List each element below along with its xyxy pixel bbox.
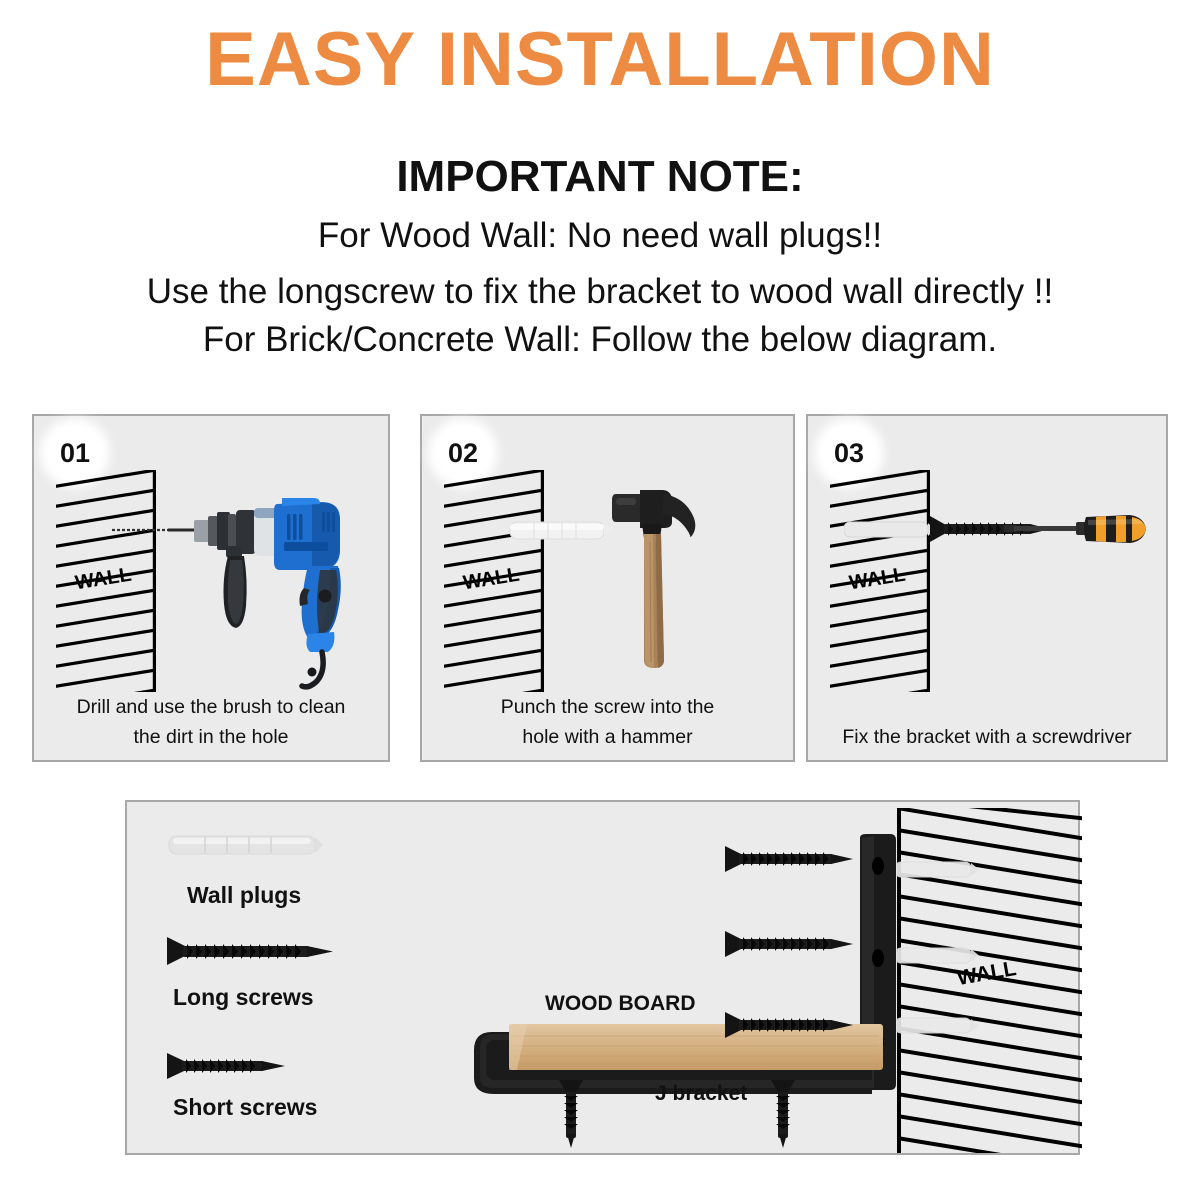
page-title: EASY INSTALLATION xyxy=(0,22,1200,98)
step-03-illustration: WALL xyxy=(808,460,1166,700)
note-line-2: Use the longscrew to fix the bracket to … xyxy=(0,272,1200,312)
short-screw-icon xyxy=(769,1080,797,1150)
step-caption-02-line1: Punch the screw into the xyxy=(422,692,793,722)
assembly-panel: Wall plugs Long screws Short screws xyxy=(125,800,1080,1155)
note-line-3: For Brick/Concrete Wall: Follow the belo… xyxy=(0,320,1200,360)
legend-label-long-screws: Long screws xyxy=(173,984,314,1011)
wall-plug-icon xyxy=(165,828,325,862)
electric-drill-icon xyxy=(162,476,352,691)
short-screw-icon xyxy=(557,1080,585,1150)
step-panel-01: 01 xyxy=(32,414,390,762)
wall-plug-icon xyxy=(895,1014,981,1038)
step-caption-03: Fix the bracket with a screwdriver xyxy=(808,722,1166,752)
long-screw-icon xyxy=(167,934,337,968)
important-note-heading: IMPORTANT NOTE: xyxy=(0,152,1200,202)
long-screw-icon xyxy=(725,844,855,874)
long-screw-icon xyxy=(725,1010,855,1040)
steps-row: 01 xyxy=(0,414,1200,766)
long-screw-icon xyxy=(725,929,855,959)
step-panel-03: 03 WALL xyxy=(806,414,1168,762)
claw-hammer-icon xyxy=(598,482,718,692)
step-caption-01: Drill and use the brush to clean the dir… xyxy=(34,692,388,752)
short-screw-icon xyxy=(167,1050,297,1082)
step-caption-02-line2: hole with a hammer xyxy=(422,722,793,752)
note-line-1: For Wood Wall: No need wall plugs!! xyxy=(0,216,1200,256)
step-caption-02: Punch the screw into the hole with a ham… xyxy=(422,692,793,752)
step-panel-02: 02 WALL xyxy=(420,414,795,762)
legend-label-wall-plugs: Wall plugs xyxy=(187,882,301,909)
step-caption-03-line1: Fix the bracket with a screwdriver xyxy=(808,722,1166,752)
wall-plug-inserted-icon xyxy=(844,516,936,544)
wall-plug-icon xyxy=(895,944,981,968)
step-caption-01-line1: Drill and use the brush to clean xyxy=(34,692,388,722)
wood-board-label: WOOD BOARD xyxy=(545,992,696,1016)
step-01-illustration: WALL xyxy=(34,460,388,700)
step-02-illustration: WALL xyxy=(422,460,793,700)
step-caption-01-line2: the dirt in the hole xyxy=(34,722,388,752)
screwdriver-icon xyxy=(1004,508,1154,550)
j-bracket-label: J bracket xyxy=(655,1082,747,1106)
wall-plug-icon xyxy=(895,858,981,882)
legend-label-short-screws: Short screws xyxy=(173,1094,317,1121)
header: EASY INSTALLATION IMPORTANT NOTE: For Wo… xyxy=(0,0,1200,400)
